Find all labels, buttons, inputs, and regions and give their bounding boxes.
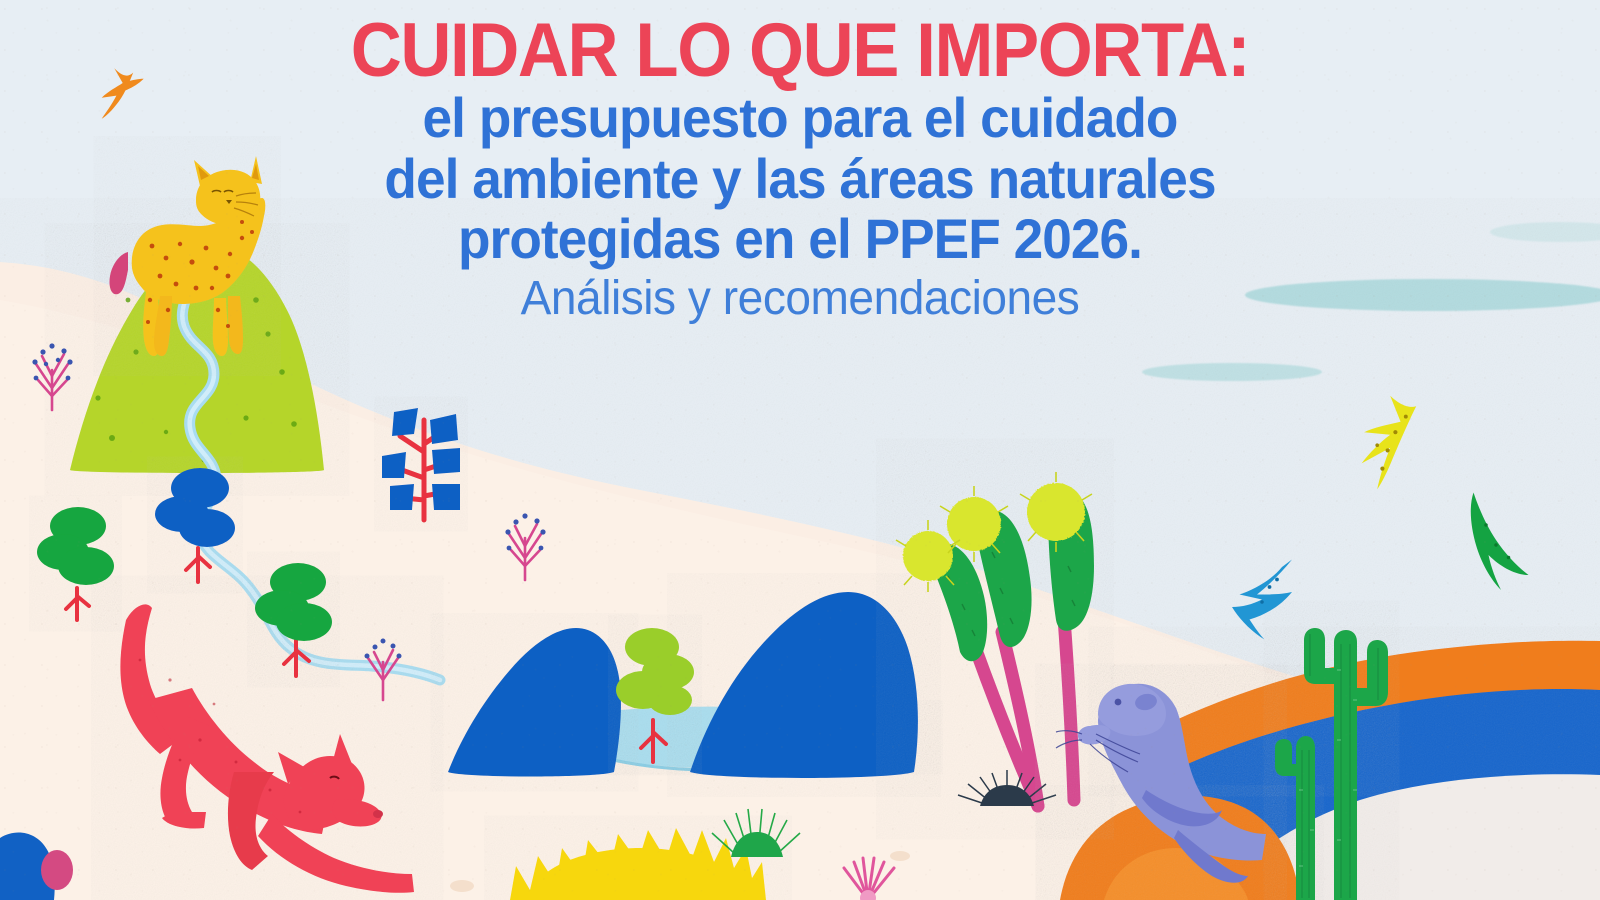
illustration-scene: [0, 0, 1600, 900]
poster-cover: CUIDAR LO QUE IMPORTA: el presupuesto pa…: [0, 0, 1600, 900]
cloud-icon: [1142, 363, 1322, 381]
cloud-icon: [1245, 279, 1600, 311]
